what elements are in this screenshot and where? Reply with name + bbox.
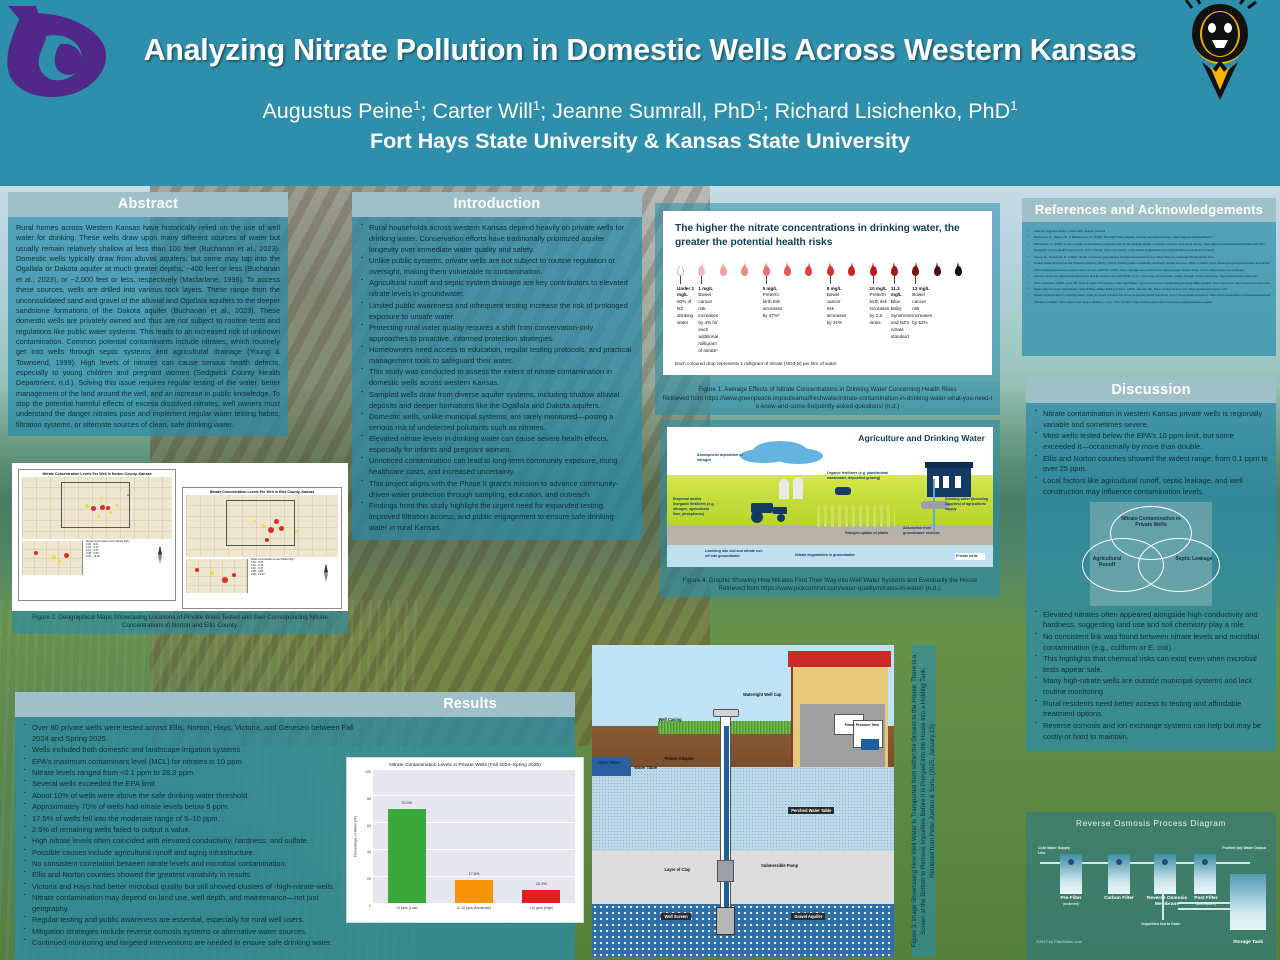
map-card-ellis: Nitrate Concentration Levels Per Well in…: [182, 487, 342, 609]
figure-4-label: Atmospheric deposition of nitrogen: [697, 453, 753, 463]
discussion-bullet: Local factors like agricultural runoff, …: [1034, 476, 1268, 498]
gravel-aquifer-layer: [592, 904, 894, 957]
venn-label-right: Septic Leakage: [1174, 556, 1214, 563]
well-point: [100, 497, 103, 500]
nitrate-risk-infographic: The higher the nitrate concentrations in…: [663, 211, 992, 375]
silo-icon: [779, 479, 789, 499]
nitrate-tick: [805, 276, 826, 285]
map-right-title: Nitrate Concentration Levels Per Well in…: [183, 488, 341, 495]
abstract-heading: Abstract: [8, 192, 288, 217]
nitrate-label-value: 5 mg/L: [763, 286, 782, 293]
map-right-image: [186, 495, 338, 557]
results-bullet: EPA's maximum contaminant level (MCL) fo…: [23, 757, 355, 768]
figure-1-caption-line2: Retrieved from https://www.greenpeace.or…: [661, 395, 994, 412]
well-point: [91, 506, 96, 511]
chart-bars: 70.0%17.5%10.0%: [373, 770, 575, 904]
discussion-bullet: This highlights that chemical risks can …: [1034, 654, 1268, 676]
nitrate-label-row: Under 1 mg/L80% of NZ drinking water1 mg…: [677, 286, 980, 355]
well-point: [222, 577, 228, 583]
map-left-title: Nitrate Concentration Levels Per Well in…: [19, 470, 175, 477]
introduction-bullet: Findings from this study highlight the u…: [360, 501, 634, 534]
ro-stage-knob: [1068, 859, 1074, 865]
nitrate-tick: [784, 276, 805, 285]
map-right-legend: Nitrate Concentration Levels (Nitrate Mg…: [186, 559, 338, 593]
figure-4-label: Organic fertilizers (e.g. plant/animal w…: [827, 471, 889, 481]
nitrate-label-value: 10 mg/L: [870, 286, 889, 293]
introduction-bullet: Unlike public systems, private wells are…: [360, 256, 634, 278]
ro-stage-name: Carbon Filter: [1104, 896, 1134, 901]
nitrate-label-cell: [784, 286, 805, 355]
ro-stage-name: Pre-Filter: [1060, 896, 1081, 901]
results-bullet-list: Over 80 private wells were tested across…: [23, 723, 355, 949]
nitrate-label-cell: Under 1 mg/L80% of NZ drinking water: [677, 286, 698, 355]
nitrate-label-text: 80% of NZ drinking water: [677, 299, 693, 325]
watertight-well-cap-icon: [713, 709, 739, 717]
nitrate-label-text: Blue Baby Syndrome and NZ's nitrate stan…: [891, 299, 912, 338]
figure-4-label: Leaching into soil and nitrate run-off i…: [705, 549, 767, 559]
compass-rose-icon: N: [316, 563, 336, 583]
map-inset-box: [61, 482, 130, 528]
results-bullet: Nitrate levels ranged from <0.1 ppm to 2…: [23, 768, 355, 779]
results-heading: Results: [15, 692, 575, 717]
references-list: Authors: Augustus Peine, Carter Will, Je…: [1028, 229, 1270, 305]
reference-entry[interactable]: Pure Carbonics. (2024, June 18). Pure & …: [1028, 281, 1270, 286]
reference-entry[interactable]: Kansas Center for Agricultural Resources…: [1028, 274, 1270, 279]
well-point: [52, 555, 56, 559]
ro-stage-post-filter: [1194, 854, 1216, 894]
nitrate-label-cell: [741, 286, 762, 355]
nitrate-label-text: Preterm birth risk increases by 2.5 time…: [870, 292, 890, 325]
chart-gridline: [373, 769, 575, 770]
label-layer-of-clay: Layer of Clay: [664, 867, 690, 872]
label-perched-water-table: Perched Water Table: [788, 807, 834, 814]
figure-4-label: Private wells: [955, 553, 985, 560]
figure-2-maps: Nitrate Concentration Levels Per Well in…: [12, 463, 348, 634]
nitrate-tick: [763, 276, 784, 285]
figure-3-caption-text: Figure 3. Image Showcasing How Well Wate…: [911, 648, 937, 954]
ro-diagram-title: Reverse Osmosis Process Diagram: [1026, 812, 1276, 828]
figure-4-label: Nitrate degradation in groundwater: [795, 553, 867, 558]
well-point: [64, 553, 69, 558]
nitrate-tick: [720, 276, 741, 285]
nitrate-label-value: 8 mg/L: [827, 286, 846, 293]
chart-x-tick-labels: <5 ppm (Low)5–10 ppm (Moderate)>10 ppm (…: [373, 904, 575, 910]
ro-stage-knob: [1116, 859, 1122, 865]
nitrate-drop-icon: [720, 266, 741, 276]
figure-1-frame: The higher the nitrate concentrations in…: [655, 203, 1000, 383]
ro-label-pre-filter: Pre-Filter (sediment): [1050, 896, 1092, 906]
nitrate-label-text: Preterm birth risk increases by 47%²: [763, 292, 783, 318]
results-bullet: Wells included both domestic and landsca…: [23, 745, 355, 756]
well-cross-section: Watertight Well Cap Well Casing Pitless …: [592, 645, 894, 957]
label-pressure-tank: Pressure Tank: [856, 723, 882, 727]
nitrate-label-value: 13 mg/L: [912, 286, 931, 293]
map-sheet: Nitrate Concentration Levels Per Well in…: [12, 463, 348, 611]
venn-label-left: Agricultural Runoff: [1086, 556, 1128, 569]
label-power: Power: [845, 723, 855, 727]
figure-4-label: Dispersal and/or inorganic fertilizers (…: [673, 497, 717, 517]
figure-2-caption-line1: Figure 2. Geographical Maps Showcasing L…: [18, 614, 342, 622]
results-bullet: About 10% of wells were above the safe d…: [23, 791, 355, 802]
map-inset-box: [226, 500, 296, 546]
ro-outlet-label: Purified (to) Water Output: [1222, 846, 1266, 851]
results-bullet: Approximately 70% of wells had nitrate l…: [23, 802, 355, 813]
poster-header: Analyzing Nitrate Pollution in Domestic …: [0, 0, 1280, 186]
well-point: [232, 573, 236, 577]
nitrate-label-cell: [720, 286, 741, 355]
affiliation: Fort Hays State University & Kansas Stat…: [0, 129, 1280, 154]
nitrate-drop-icon: [848, 266, 869, 276]
nitrate-tick: [934, 276, 955, 285]
results-bullet: Several wells exceeded the EPA limit.: [23, 779, 355, 790]
nitrate-label-value: Under 1 mg/L: [677, 286, 696, 300]
discussion-bullets-bottom: Elevated nitrates often appeared alongsi…: [1034, 610, 1268, 743]
chart-gridline: [373, 795, 575, 796]
section-abstract: Abstract Rural homes across Western Kans…: [8, 192, 288, 436]
nitrate-label-cell: 10 mg/LPreterm birth risk increases by 2…: [870, 286, 891, 355]
ro-stage-carbon-filter: [1108, 854, 1130, 894]
nitrate-drop-icon: [870, 266, 891, 276]
reference-entry[interactable]: Authors: Augustus Peine, Carter Will, Je…: [1028, 229, 1270, 234]
section-introduction: Introduction Rural households across wes…: [352, 192, 642, 540]
results-bullet: Regular testing and public awareness are…: [23, 915, 355, 926]
well-point: [295, 530, 298, 533]
nitrate-drop-icon: [763, 266, 784, 276]
figure-1-caption-line1: Figure 1. Average Effects of Nitrate Con…: [661, 386, 994, 394]
reference-entry[interactable]: Sedgwick County Health Department. (n.d.…: [1028, 248, 1270, 253]
well-point: [274, 519, 279, 524]
infographic-title: The higher the nitrate concentrations in…: [675, 222, 980, 250]
chart-bar-value: 17.5%: [455, 872, 493, 876]
ro-stage-knob: [1162, 859, 1168, 865]
results-bullet: Mitigation strategies include reverse os…: [23, 927, 355, 938]
svg-text:N: N: [325, 564, 327, 568]
nitrate-label-cell: [848, 286, 869, 355]
introduction-heading: Introduction: [352, 192, 642, 217]
results-bullet: Nitrate contamination may depend on land…: [23, 893, 355, 915]
compass-rose-icon: N: [150, 545, 170, 565]
discussion-bullet: Nitrate contamination in western Kansas …: [1034, 409, 1268, 431]
svg-text:N: N: [159, 546, 161, 550]
chart-plot-area: Percentage of Wells (%) 020406080100 70.…: [351, 770, 579, 904]
map-card-norton: Nitrate Concentration Levels Per Well in…: [18, 469, 176, 601]
discussion-bullet: Many high-nitrate wells are outside muni…: [1034, 676, 1268, 698]
chart-x-label: 5–10 ppm (Moderate): [440, 904, 507, 910]
well-point: [195, 568, 199, 572]
nitrate-label-cell: 8 mg/LBowel cancer risk increases by 32%: [827, 286, 848, 355]
nitrate-tick-row: [677, 276, 980, 285]
label-gravel-aquifer: Gravel Aquifer: [791, 913, 825, 920]
nitrate-tick: [955, 276, 976, 285]
nitrate-drop-icon: [741, 266, 762, 276]
label-water-table: Water Table: [634, 765, 657, 770]
figure-4-caption: Figure 4. Graphic Showing How Nitrates F…: [660, 574, 1000, 597]
introduction-body: Rural households across western Kansas d…: [352, 217, 642, 540]
label-watertight-well-cap: Watertight Well Cap: [743, 692, 781, 697]
nitrate-drop-icon: [698, 266, 719, 276]
perched-water-layer: [592, 767, 894, 851]
reference-entry[interactable]: USDA Natural Resources Conservation Serv…: [1028, 268, 1270, 273]
figure-3-caption-line1: Figure 3. Image Showcasing How Well Wate…: [911, 655, 927, 948]
ro-label-carbon-filter: Carbon Filter: [1096, 896, 1142, 902]
map-legend-box: Nitrate Concentration Levels (Nitrate Mg…: [247, 559, 338, 593]
results-bullet: Ellis and Norton counties showed the gre…: [23, 870, 355, 881]
well-point: [279, 526, 284, 531]
references-body: Authors: Augustus Peine, Carter Will, Je…: [1022, 222, 1276, 356]
well-point: [58, 560, 61, 563]
well-point: [262, 524, 266, 528]
nitrate-drop-icon: [805, 266, 826, 276]
figure-4-label: Drinking water (including supplies) of a…: [945, 497, 989, 512]
reference-entry[interactable]: Young, D., Townsend, M. (1999). Nitrate …: [1028, 255, 1270, 260]
ro-label-storage-tank: Storage Tank: [1224, 940, 1272, 946]
chart-bar: 70.0%: [388, 809, 426, 903]
reference-entry[interactable]: United States Environmental Protection A…: [1028, 261, 1270, 266]
infographic-note: Each coloured drop represents 1 milligra…: [675, 361, 980, 366]
author-list: Augustus Peine1; Carter Will1; Jeanne Su…: [0, 98, 1280, 124]
discussion-bullets-top: Nitrate contamination in western Kansas …: [1034, 409, 1268, 498]
ro-credit: ©2017 by FilterWater.com: [1036, 939, 1082, 944]
results-bullet: Possible causes include agricultural run…: [23, 848, 355, 859]
pressure-tank-body: [861, 739, 879, 750]
chart-bar: 17.5%: [455, 880, 493, 903]
nitrate-tick: [741, 276, 762, 285]
nitrate-drop-icon: [891, 266, 912, 276]
nitrate-label-cell: [805, 286, 826, 355]
nitrate-tick: [848, 276, 869, 285]
well-point: [106, 506, 110, 510]
page-title: Analyzing Nitrate Pollution in Domestic …: [0, 33, 1280, 68]
nitrate-label-cell: 5 mg/LPreterm birth risk increases by 47…: [763, 286, 784, 355]
ro-drain-label: Impurities Out to Drain: [1136, 922, 1186, 927]
results-bullet: High nitrate levels often coincided with…: [23, 836, 355, 847]
reverse-osmosis-diagram: Reverse Osmosis Process Diagram Cold Wat…: [1026, 812, 1276, 960]
discussion-bullet: Most wells tested below the EPA's 10 ppm…: [1034, 431, 1268, 453]
discussion-bullet: Rural residents need better access to te…: [1034, 699, 1268, 721]
figure-4-caption-line1: Figure 4. Graphic Showing How Nitrates F…: [666, 577, 994, 585]
well-point: [100, 505, 105, 510]
house-window: [943, 476, 949, 488]
label-open-water: Open Water: [598, 760, 621, 765]
label-submersible-pump: Submersible Pump: [761, 863, 798, 868]
reference-entry[interactable]: Nitrate contamination in drinking water:…: [1028, 293, 1270, 298]
results-bullet: Victoria and Hays had better microbial q…: [23, 882, 355, 893]
introduction-bullet: Protecting rural water quality requires …: [360, 323, 634, 345]
label-pitless-adapter: Pitless Adapter: [664, 756, 694, 761]
figure-2-caption: Figure 2. Geographical Maps Showcasing L…: [12, 611, 348, 634]
cow-icon: [835, 487, 851, 495]
nitrate-label-cell: [955, 286, 976, 355]
abstract-body: Rural homes across Western Kansas have h…: [8, 217, 288, 436]
nitrate-tick: [677, 276, 698, 285]
chart-x-label: >10 ppm (High): [508, 904, 575, 910]
map-left-legend: Nitrate Concentration Levels (Nitrate Mg…: [22, 541, 172, 575]
clay-layer: [592, 851, 894, 904]
drop-pipe-icon: [724, 726, 729, 919]
introduction-bullet: Elevated nitrate levels in drinking wate…: [360, 434, 634, 456]
well-screen-icon: [716, 907, 736, 935]
ro-stage-pre-filter: [1060, 854, 1082, 894]
nitrate-label-text: Bowel cancer risk increases by 52%: [912, 292, 932, 325]
section-references: References and Acknowledgements Authors:…: [1022, 198, 1276, 356]
label-well-screen: Well Screen: [661, 913, 690, 920]
discussion-bullet: No consistent link was found between nit…: [1034, 632, 1268, 654]
introduction-bullet: Homeowners need access to education, reg…: [360, 345, 634, 367]
nitrate-label-cell: 13 mg/LBowel cancer risk increases by 52…: [912, 286, 933, 355]
figure-1-caption: Figure 1. Average Effects of Nitrate Con…: [655, 383, 1000, 414]
reference-entry[interactable]: "Nitrates in Water" (with search and hav…: [1028, 300, 1270, 305]
figure-4-caption-line2: Retrieved from https://www.pickcomfort.c…: [666, 585, 994, 593]
well-point: [210, 571, 214, 575]
nitrate-drop-row: [677, 259, 980, 276]
discussion-bullet: Reverse osmosis and ion exchange systems…: [1034, 721, 1268, 743]
nitrate-drop-icon: [912, 266, 933, 276]
nitrate-drop-icon: [955, 266, 976, 276]
nitrate-label-cell: 11.3 mg/LBlue Baby Syndrome and NZ's nit…: [891, 286, 912, 355]
nitrate-tick: [870, 276, 891, 285]
discussion-heading: Discussion: [1026, 378, 1276, 403]
figure-4-label: Absorption from groundwater sources: [903, 526, 949, 536]
nitrate-levels-bar-chart: Nitrate Contamination Levels in Private …: [346, 757, 584, 923]
nitrate-label-text: Bowel cancer risk increases by 32%: [827, 292, 847, 325]
abstract-text: Rural homes across Western Kansas have h…: [16, 223, 280, 430]
house-roof: [788, 651, 891, 667]
introduction-bullet-list: Rural households across western Kansas d…: [360, 223, 634, 534]
introduction-bullet: Domestic wells, unlike municipal systems…: [360, 412, 634, 434]
ro-stage-sub: (sediment): [1050, 902, 1092, 906]
nitrate-tick: [891, 276, 912, 285]
nitrate-drop-icon: [677, 266, 698, 276]
house-window: [955, 476, 961, 488]
results-bullet: 17.5% of wells fell into the moderate ra…: [23, 814, 355, 825]
nitrate-drop-icon: [934, 266, 955, 276]
chart-y-axis-label: Percentage of Wells (%): [351, 770, 360, 904]
nitrate-label-text: Bowel cancer risk increases by 4% for ea…: [698, 292, 718, 352]
well-point: [253, 520, 256, 523]
section-discussion: Discussion Nitrate contamination in west…: [1026, 378, 1276, 751]
reference-entry[interactable]: Water Well Services, Well Repair, Well D…: [1028, 287, 1270, 292]
nitrate-label-cell: [934, 286, 955, 355]
results-bullet: Continued monitoring and targeted interv…: [23, 938, 355, 949]
discussion-body: Nitrate contamination in western Kansas …: [1026, 403, 1276, 751]
nitrate-drop-icon: [827, 266, 848, 276]
ro-drain-line: [1162, 894, 1164, 920]
reference-entry[interactable]: Macfarlane, A. (1996). A user's guide to…: [1028, 242, 1270, 247]
house-roof: [925, 462, 973, 468]
figure-1-nitrate-health-risks: The higher the nitrate concentrations in…: [655, 203, 1000, 415]
crop-rows-icon: [817, 505, 895, 527]
results-bullet: Over 80 private wells were tested across…: [23, 723, 355, 745]
figure-3-caption-line2: Retrieved from Peter Juetten & Sons. (20…: [928, 724, 935, 878]
references-heading: References and Acknowledgements: [1022, 198, 1276, 222]
chart-bar: 10.0%: [522, 890, 560, 903]
figure-4-frame: Agriculture and Drinking Water Atmospher…: [660, 420, 1000, 574]
introduction-bullet: Agricultural runoff and septic system dr…: [360, 278, 634, 300]
chart-x-label: <5 ppm (Low): [373, 904, 440, 910]
figure-2-caption-line2: Concentrations in Norton and Ellis Count…: [18, 622, 342, 630]
introduction-bullet: Rural households across western Kansas d…: [360, 223, 634, 256]
nitrate-label-cell: 1 mg/LBowel cancer risk increases by 4% …: [698, 286, 719, 355]
agriculture-water-graphic: Agriculture and Drinking Water Atmospher…: [667, 427, 993, 567]
tractor-icon: [743, 499, 797, 523]
well-point: [34, 551, 38, 555]
introduction-bullet: This study was conducted to assess the e…: [360, 367, 634, 389]
chart-title: Nitrate Contamination Levels in Private …: [351, 763, 579, 768]
nitrate-label-value: 1 mg/L: [698, 286, 717, 293]
introduction-bullet: Unnoticed contamination can lead to long…: [360, 456, 634, 478]
figure-3-well-diagram: Watertight Well Cap Well Casing Pitless …: [592, 645, 894, 957]
nitrate-tick: [912, 276, 933, 285]
submersible-pump-icon: [717, 860, 734, 882]
map-left-image: [22, 477, 172, 539]
nitrate-label-value: 11.3 mg/L: [891, 286, 910, 300]
introduction-bullet: Limited public awareness and infrequent …: [360, 301, 634, 323]
nitrate-tick: [698, 276, 719, 285]
venn-label-top: Nitrate Contamination in Private Wells: [1120, 516, 1182, 529]
figure-3-caption: Figure 3. Image Showcasing How Well Wate…: [912, 645, 936, 957]
rain-cloud-icon: [753, 441, 807, 461]
introduction-bullet: This project aligns with the Phase II gr…: [360, 479, 634, 501]
figure-4-agriculture-drinking-water: Agriculture and Drinking Water Atmospher…: [660, 420, 1000, 597]
venn-diagram: Nitrate Contamination in Private Wells A…: [1090, 502, 1212, 606]
results-bullet: No consistent correlation between nitrat…: [23, 859, 355, 870]
discussion-bullet: Elevated nitrates often appeared alongsi…: [1034, 610, 1268, 632]
silo-icon: [793, 477, 803, 499]
figure-4-title: Agriculture and Drinking Water: [858, 433, 985, 443]
discussion-bullet: Ellis and Norton counties showed the wid…: [1034, 454, 1268, 476]
ro-stage-name: Post Filter: [1194, 896, 1217, 901]
chart-bar-value: 70.0%: [388, 801, 426, 805]
map-legend-box: Nitrate Concentration Levels (Nitrate Mg…: [82, 541, 172, 575]
nitrate-tick: [827, 276, 848, 285]
figure-4-label: Nitrogen uptake of plants: [845, 531, 889, 536]
chart-bar-value: 10.0%: [522, 882, 560, 886]
ro-stage-knob: [1202, 859, 1208, 865]
reference-entry[interactable]: Buchanan, R., Wilson, B., & Buddemeier, …: [1028, 235, 1270, 240]
results-bullet: 2.5% of remaining wells failed to output…: [23, 825, 355, 836]
ro-storage-tank: [1230, 874, 1266, 930]
chart-y-ticks: 020406080100: [360, 770, 373, 904]
introduction-bullet: Sampled wells draw from diverse aquifer …: [360, 390, 634, 412]
venn-circle-right: [1138, 538, 1220, 592]
nitrate-drop-icon: [784, 266, 805, 276]
ro-stage-ro-membrane: [1154, 854, 1176, 894]
label-well-casing: Well Casing: [658, 717, 681, 722]
